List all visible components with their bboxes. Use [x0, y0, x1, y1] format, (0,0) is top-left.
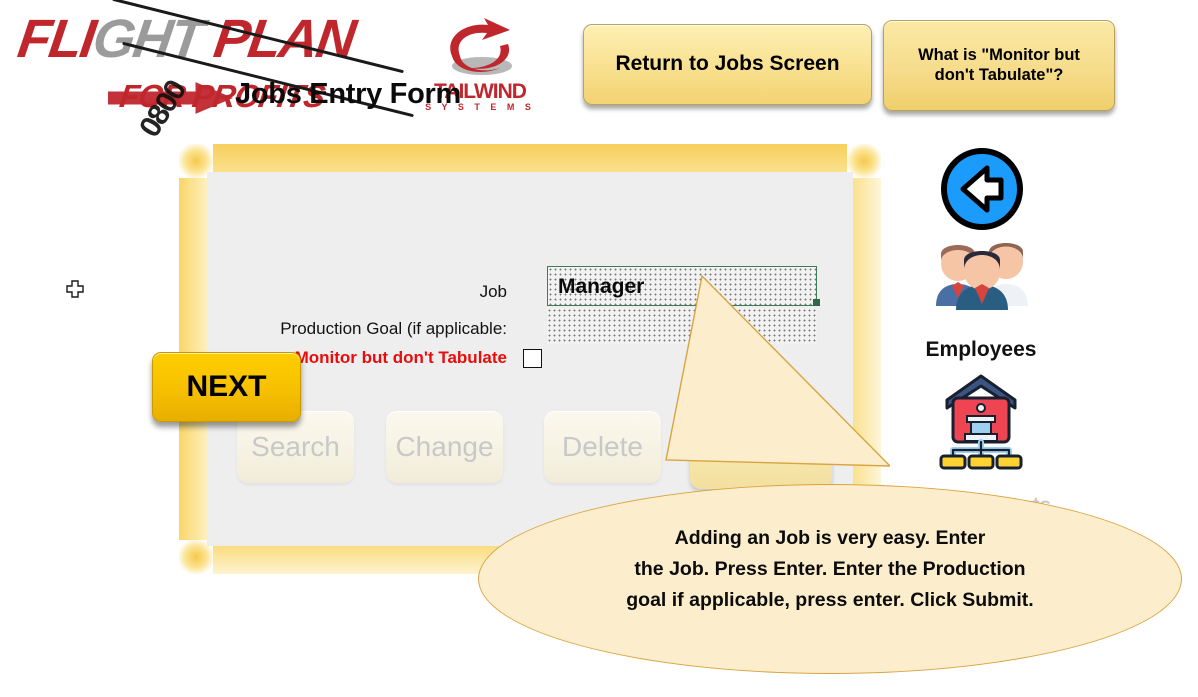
next-button[interactable]: NEXT [152, 352, 301, 422]
employees-label: Employees [900, 338, 1062, 362]
back-arrow-circle-icon[interactable] [941, 148, 1023, 230]
crosshair-cursor-icon [66, 280, 84, 298]
callout-line-2: the Job. Press Enter. Enter the Producti… [500, 554, 1160, 585]
tailwind-swirl-icon [438, 18, 520, 80]
return-to-jobs-screen-button[interactable]: Return to Jobs Screen [583, 24, 872, 105]
wordmark-part-a: FLI [14, 9, 97, 69]
callout-line-1: Adding an Job is very easy. Enter [500, 523, 1160, 554]
page-title: Jobs Entry Form [218, 78, 478, 111]
production-goal-label: Production Goal (if applicable: [155, 319, 507, 339]
callout-text: Adding an Job is very easy. Enter the Jo… [500, 523, 1160, 615]
employees-group-icon[interactable] [928, 228, 1036, 310]
what-is-monitor-but-dont-tabulate-button[interactable]: What is "Monitor but don't Tabulate"? [883, 20, 1115, 111]
frame-border-top [199, 144, 861, 172]
callout-line-3: goal if applicable, press enter. Click S… [500, 585, 1160, 616]
departments-org-chart-icon[interactable] [935, 372, 1027, 472]
